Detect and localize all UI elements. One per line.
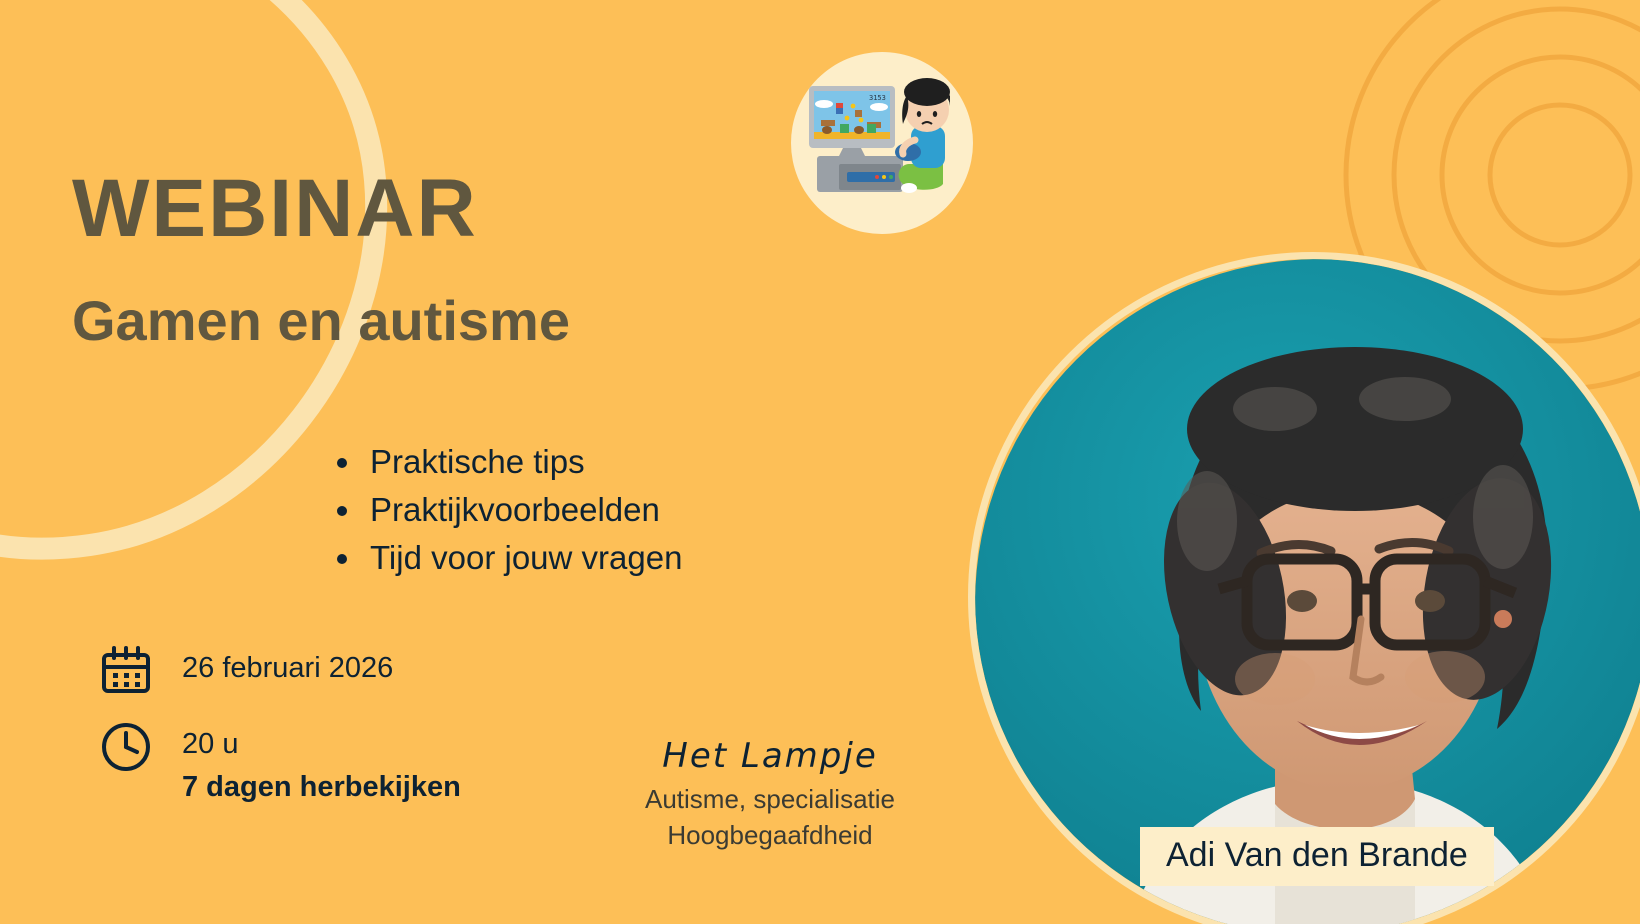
brand-name: Het Lampje [598,738,942,775]
event-replay: 7 dagen herbekijken [182,763,461,807]
brand-subtitle-line2: Hoogbegaafdheid [598,817,942,853]
brand-subtitle-line1: Autisme, specialisatie [598,781,942,817]
avatar [975,259,1640,924]
event-details: 26 februari 2026 20 u 7 dagen herbekijke… [100,645,461,831]
speaker-portrait [968,252,1640,924]
portrait-ring [968,252,1640,924]
brand-subtitle: Autisme, specialisatie Hoogbegaafdheid [598,781,942,853]
list-item: Praktische tips [364,438,682,486]
speaker-photo-illustration [975,259,1640,924]
page-title: WEBINAR [72,168,478,250]
list-item: Tijd voor jouw vragen [364,534,682,582]
event-time: 20 u [182,721,461,763]
speaker-name-banner: Adi Van den Brande [1140,827,1494,886]
webinar-banner: WEBINAR Gamen en autisme Praktische tips… [0,0,1640,924]
game-score-label: 3153 [869,94,886,102]
event-time-row: 20 u 7 dagen herbekijken [100,721,461,807]
feature-list: Praktische tips Praktijkvoorbeelden Tijd… [330,438,682,582]
event-date-row: 26 februari 2026 [100,645,461,697]
kid-playing-video-game-icon: 3153 [791,52,973,234]
clock-icon [100,721,152,773]
calendar-icon [100,645,152,697]
list-item: Praktijkvoorbeelden [364,486,682,534]
page-subtitle: Gamen en autisme [72,292,570,351]
event-time-group: 20 u 7 dagen herbekijken [182,721,461,807]
gaming-illustration-badge: 3153 [791,52,973,234]
event-date: 26 februari 2026 [182,645,393,687]
brand-block: Het Lampje Autisme, specialisatie Hoogbe… [598,738,942,853]
